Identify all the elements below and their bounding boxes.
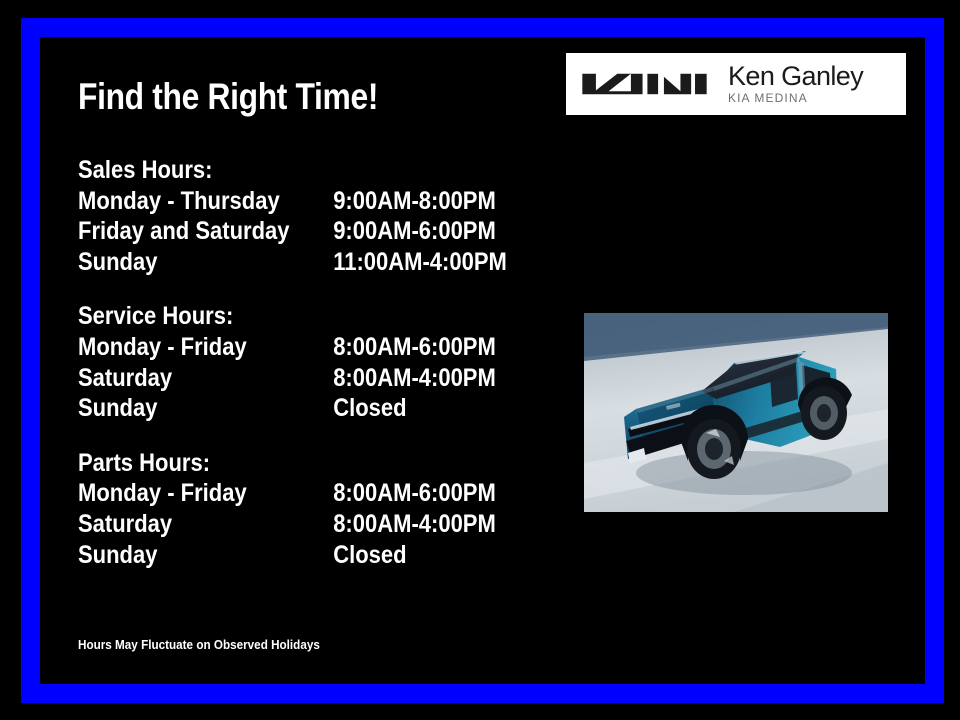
hours-row-time: 9:00AM-8:00PM (333, 186, 496, 217)
kia-logo-icon (576, 67, 713, 101)
hours-row-time: 8:00AM-4:00PM (333, 509, 496, 540)
hours-group-service: Service Hours: Monday - Friday 8:00AM-6:… (78, 301, 598, 423)
footer-note: Hours May Fluctuate on Observed Holidays (78, 637, 320, 652)
dealer-logo-banner: Ken Ganley KIA MEDINA (566, 53, 906, 115)
slide-canvas: Find the Right Time! Sales Hours: Monday… (40, 37, 925, 684)
hours-row-day: Monday - Friday (78, 478, 247, 509)
hours-row-day: Saturday (78, 363, 172, 394)
hours-group-parts: Parts Hours: Monday - Friday 8:00AM-6:00… (78, 448, 598, 570)
hours-row-day: Sunday (78, 540, 157, 571)
hours-row-time: 8:00AM-4:00PM (333, 363, 496, 394)
hours-row-day: Monday - Friday (78, 332, 247, 363)
hours-row-day: Sunday (78, 393, 157, 424)
page-title: Find the Right Time! (78, 78, 378, 115)
group-heading: Parts Hours: (78, 448, 536, 479)
group-heading: Service Hours: (78, 301, 536, 332)
hours-group-sales: Sales Hours: Monday - Thursday 9:00AM-8:… (78, 155, 598, 277)
hours-row: Sunday Closed (78, 540, 536, 571)
hours-row-time: 9:00AM-6:00PM (333, 216, 496, 247)
hours-row: Monday - Thursday 9:00AM-8:00PM (78, 186, 536, 217)
hours-row: Friday and Saturday 9:00AM-6:00PM (78, 216, 536, 247)
hours-block: Sales Hours: Monday - Thursday 9:00AM-8:… (78, 155, 598, 570)
dealer-sub: KIA MEDINA (728, 91, 863, 106)
hours-row: Sunday 11:00AM-4:00PM (78, 247, 536, 278)
hours-row: Sunday Closed (78, 393, 536, 424)
kia-ev9-suv-photo (584, 313, 888, 512)
hours-row-time: Closed (333, 393, 406, 424)
hours-row-day: Saturday (78, 509, 172, 540)
hours-row-day: Friday and Saturday (78, 216, 290, 247)
hours-row: Saturday 8:00AM-4:00PM (78, 509, 536, 540)
hours-row: Monday - Friday 8:00AM-6:00PM (78, 332, 536, 363)
hours-row-time: 11:00AM-4:00PM (333, 247, 507, 278)
hours-row-time: Closed (333, 540, 406, 571)
hours-row: Monday - Friday 8:00AM-6:00PM (78, 478, 536, 509)
hours-row-day: Monday - Thursday (78, 186, 280, 217)
hours-row: Saturday 8:00AM-4:00PM (78, 363, 536, 394)
hours-row-day: Sunday (78, 247, 157, 278)
dealer-name: Ken Ganley (728, 62, 863, 90)
hours-row-time: 8:00AM-6:00PM (333, 478, 496, 509)
slide: Find the Right Time! Sales Hours: Monday… (0, 0, 960, 720)
hours-row-time: 8:00AM-6:00PM (333, 332, 496, 363)
dealer-names: Ken Ganley KIA MEDINA (728, 62, 863, 106)
group-heading: Sales Hours: (78, 155, 536, 186)
